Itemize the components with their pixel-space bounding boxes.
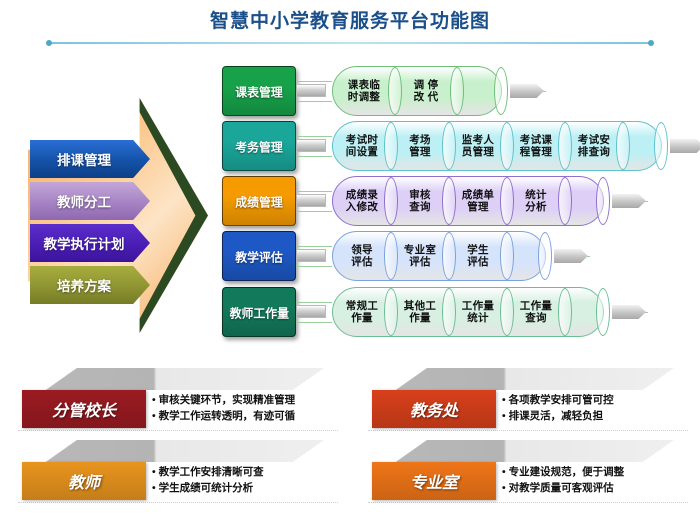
card-bullet-list: 专业建设规范，便于调整对教学质量可客观评估 [502,464,686,496]
function-row: 考务管理考试时 间设置考场 管理监考人 员管理考试课 程管理考试安 排查询 [0,121,700,175]
category-label: 课表管理 [235,82,283,100]
card-bullet: 排课灵活，减轻负担 [502,408,686,424]
connector-line [296,322,332,323]
category-label: 成绩管理 [235,192,283,210]
category-box[interactable]: 教学评估 [222,231,296,281]
category-label: 教学评估 [235,247,283,265]
feature-item[interactable]: 其他工 作量 [391,288,449,336]
card-bullet-list: 各项教学安排可管可控排课灵活，减轻负担 [502,392,686,424]
connector-stub [296,249,326,262]
feature-item[interactable]: 调 停 改 代 [395,67,457,115]
feature-label: 监考人 员管理 [462,134,494,159]
connector-line [296,156,332,157]
beneficiary-card: 专业室专业建设规范，便于调整对教学质量可客观评估 [368,440,688,502]
feature-item[interactable]: 课表临 时调整 [333,67,395,115]
card-bullet: 对教学质量可客观评估 [502,480,686,496]
feature-label: 成绩录 入修改 [346,189,378,214]
feature-item[interactable]: 成绩录 入修改 [333,177,391,225]
card-bullet: 审核关键环节，实现精准管理 [152,392,336,408]
beneficiary-card: 教务处各项教学安排可管可控排课灵活，减轻负担 [368,368,688,430]
feature-item[interactable]: 审核 查询 [391,177,449,225]
card-bullet: 教学工作运转透明，有迹可循 [152,408,336,424]
connector-line [296,302,332,303]
output-arrow [612,194,646,208]
page-title: 智慧中小学教育服务平台功能图 [0,6,700,33]
card-tag[interactable]: 分管校长 [22,390,146,428]
feature-item[interactable]: 统计 分析 [507,177,565,225]
category-box[interactable]: 成绩管理 [222,176,296,226]
pipe-segment-cap [654,122,668,170]
feature-label: 工作量 查询 [520,300,552,325]
category-box[interactable]: 考务管理 [222,121,296,171]
connector-line [296,246,332,247]
feature-label: 专业室 评估 [404,244,436,269]
feature-pipe: 领导 评估专业室 评估学生 评估 [332,231,546,281]
beneficiary-card: 教师教学工作安排清晰可查学生成绩可统计分析 [18,440,338,502]
pipe-end-segment [457,67,501,115]
function-row: 教师工作量常规工 作量其他工 作量工作量 统计工作量 查询 [0,287,700,341]
feature-label: 考试时 间设置 [346,134,378,159]
card-tag-label: 专业室 [410,469,458,493]
feature-item[interactable]: 考场 管理 [391,122,449,170]
feature-label: 其他工 作量 [404,300,436,325]
divider-line [48,42,652,44]
card-bullet: 专业建设规范，便于调整 [502,464,686,480]
connector-stub [296,194,326,207]
card-bullet-list: 教学工作安排清晰可查学生成绩可统计分析 [152,464,336,496]
output-arrow [510,84,544,98]
pipe-segment-cap [494,67,508,115]
feature-label: 常规工 作量 [346,300,378,325]
pipe-end-segment [623,122,661,170]
pipe-segment-cap [596,177,610,225]
connector-line [296,211,332,212]
pipe-end-segment [565,288,603,336]
feature-pipe: 成绩录 入修改审核 查询成绩单 管理统计 分析 [332,176,604,226]
feature-label: 工作量 统计 [462,300,494,325]
connector-line [296,191,332,192]
connector-stub [296,139,326,152]
feature-label: 调 停 改 代 [414,79,439,104]
connector-line [296,136,332,137]
connector-line [296,81,332,82]
beneficiary-card: 分管校长审核关键环节，实现精准管理教学工作运转透明，有迹可循 [18,368,338,430]
card-tag[interactable]: 教务处 [372,390,496,428]
feature-item[interactable]: 专业室 评估 [391,232,449,280]
feature-pipe: 考试时 间设置考场 管理监考人 员管理考试课 程管理考试安 排查询 [332,121,662,171]
output-arrow [612,305,646,319]
feature-item[interactable]: 考试时 间设置 [333,122,391,170]
feature-pipe: 常规工 作量其他工 作量工作量 统计工作量 查询 [332,287,604,337]
category-box[interactable]: 教师工作量 [222,287,296,337]
feature-item[interactable]: 考试安 排查询 [565,122,623,170]
connector-stub [296,305,326,318]
pipe-segment-cap [538,232,552,280]
card-tag-label: 分管校长 [52,397,116,421]
feature-item[interactable]: 成绩单 管理 [449,177,507,225]
feature-label: 统计 分析 [525,189,547,214]
feature-item[interactable]: 领导 评估 [333,232,391,280]
category-label: 教师工作量 [229,303,288,321]
function-row: 教学评估领导 评估专业室 评估学生 评估 [0,231,700,285]
feature-label: 成绩单 管理 [462,189,494,214]
divider-dot-right [648,40,654,46]
card-tag-label: 教师 [68,469,100,493]
card-bullet: 学生成绩可统计分析 [152,480,336,496]
pipe-segment-cap [596,288,610,336]
card-tag-label: 教务处 [410,397,458,421]
feature-item[interactable]: 工作量 查询 [507,288,565,336]
feature-label: 考试课 程管理 [520,134,552,159]
feature-label: 考场 管理 [409,134,431,159]
connector-stub [296,84,326,97]
category-label: 考务管理 [235,137,283,155]
divider-dot-left [46,40,52,46]
feature-label: 课表临 时调整 [348,79,380,104]
connector-line [296,101,332,102]
card-bullet: 教学工作安排清晰可查 [152,464,336,480]
feature-label: 学生 评估 [467,244,489,269]
output-arrow [670,139,700,153]
feature-item[interactable]: 常规工 作量 [333,288,391,336]
feature-item[interactable]: 考试课 程管理 [507,122,565,170]
card-bullet: 各项教学安排可管可控 [502,392,686,408]
card-tag[interactable]: 专业室 [372,462,496,500]
output-arrow [554,249,588,263]
category-box[interactable]: 课表管理 [222,66,296,116]
title-divider [48,41,652,44]
feature-label: 领导 评估 [351,244,373,269]
feature-item[interactable]: 学生 评估 [449,232,507,280]
feature-item[interactable]: 工作量 统计 [449,288,507,336]
feature-label: 审核 查询 [409,189,431,214]
card-bullet-list: 审核关键环节，实现精准管理教学工作运转透明，有迹可循 [152,392,336,424]
function-row: 课表管理课表临 时调整调 停 改 代 [0,66,700,120]
feature-item[interactable]: 监考人 员管理 [449,122,507,170]
feature-label: 考试安 排查询 [578,134,610,159]
feature-pipe: 课表临 时调整调 停 改 代 [332,66,502,116]
pipe-end-segment [507,232,545,280]
pipe-end-segment [565,177,603,225]
function-row: 成绩管理成绩录 入修改审核 查询成绩单 管理统计 分析 [0,176,700,230]
connector-line [296,266,332,267]
card-tag[interactable]: 教师 [22,462,146,500]
